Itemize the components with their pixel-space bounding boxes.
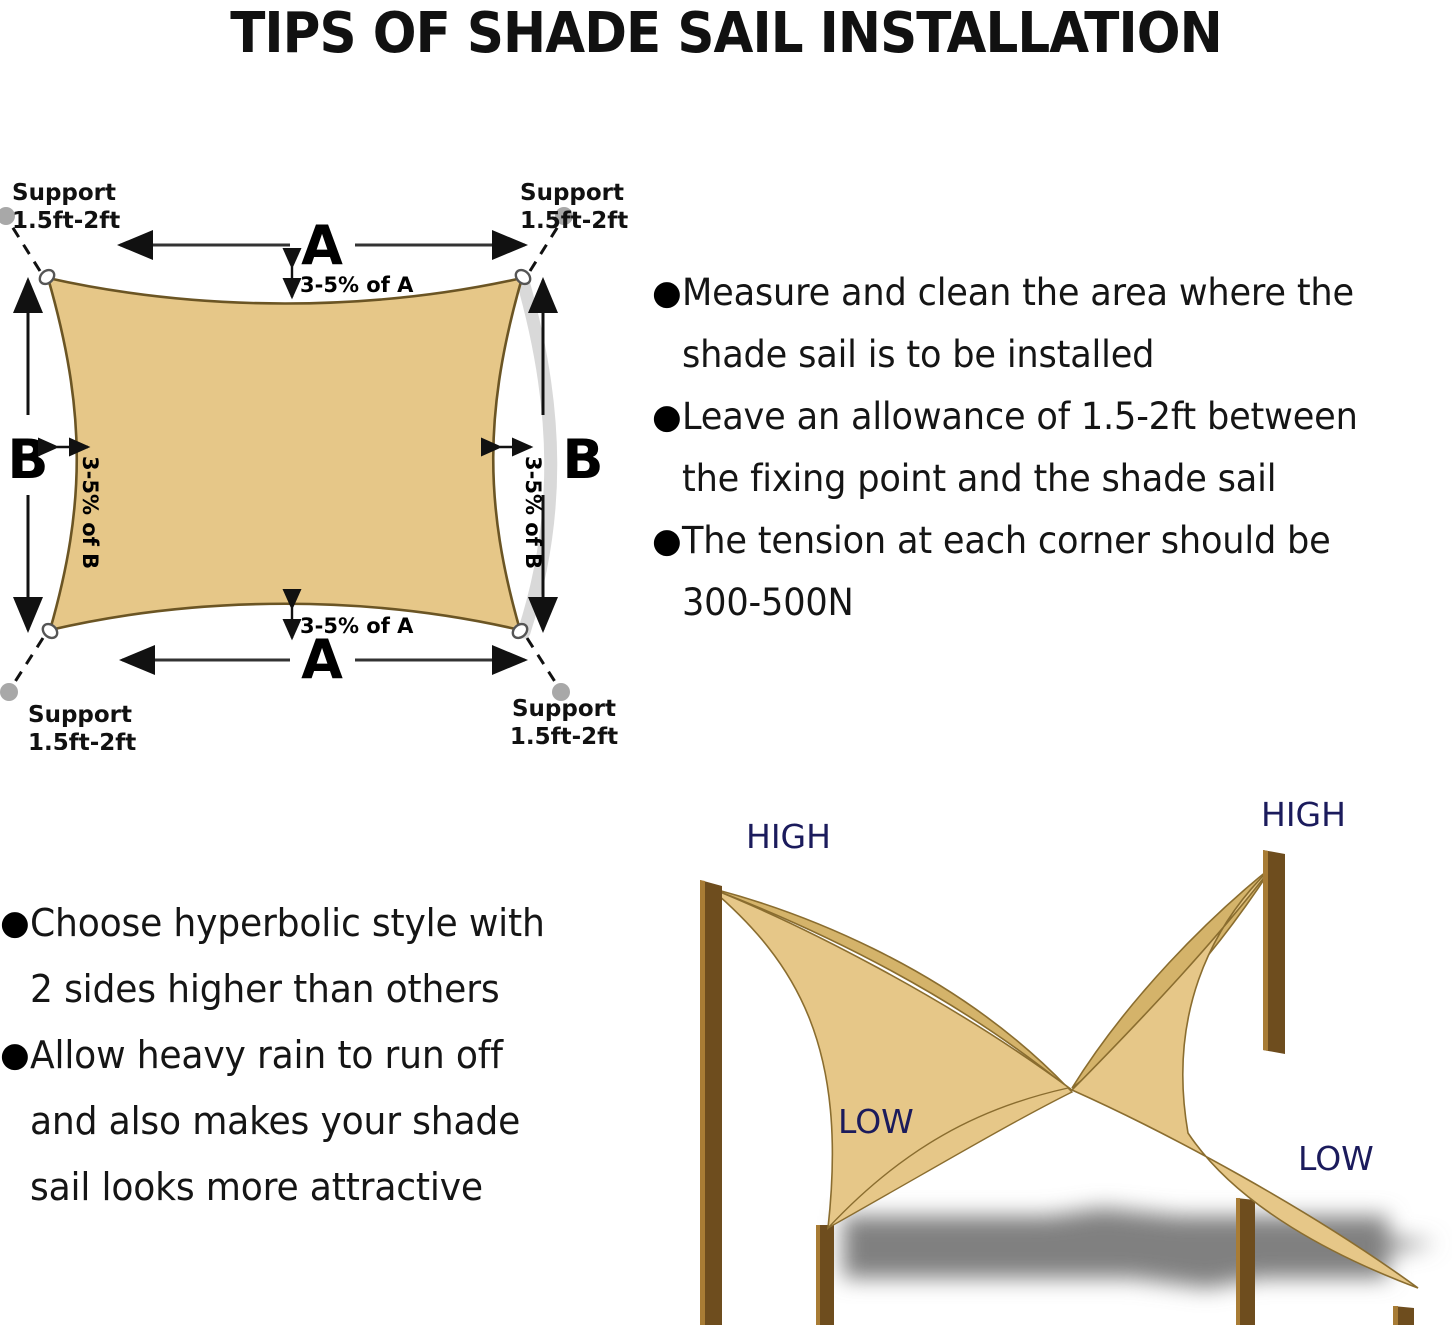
installation-tip-row-3: the fixing point and the shade sail (652, 448, 1452, 510)
curvature-label-top: 3-5% of A (300, 273, 414, 297)
curvature-label-bottom: 3-5% of A (300, 614, 414, 638)
post-low-left (816, 1225, 834, 1325)
dimension-label-b-left: B (7, 428, 48, 491)
bullet-dot-icon: ● (0, 890, 30, 956)
installation-tip-text-3: the fixing point and the shade sail (682, 448, 1414, 510)
hyperbolic-tip-text-3: and also makes your shade (30, 1088, 610, 1154)
hyperbolic-tip-row-0: ●Choose hyperbolic style with (0, 890, 640, 956)
curvature-label-left: 3-5% of B (78, 456, 102, 569)
installation-tip-text-4: The tension at each corner should be (682, 510, 1414, 572)
post-low-right (1393, 1306, 1414, 1325)
hyperbolic-tip-row-4: sail looks more attractive (0, 1154, 640, 1220)
support-label-bottom-left-line2: 1.5ft-2ft (28, 730, 136, 750)
bullet-dot-icon: ● (652, 386, 682, 448)
post-high-right (1263, 850, 1285, 1054)
installation-tip-row-0: ●Measure and clean the area where the (652, 262, 1452, 324)
installation-tip-row-5: 300-500N (652, 572, 1452, 634)
support-label-top-left-line2: 1.5ft-2ft (12, 208, 120, 234)
sail-fabric-shape (48, 278, 522, 630)
hyperbolic-tip-row-2: ●Allow heavy rain to run off (0, 1022, 640, 1088)
hyperbolic-tip-row-1: 2 sides higher than others (0, 956, 640, 1022)
bullet-dot-icon: ● (0, 1022, 30, 1088)
installation-tips-list: ●Measure and clean the area where thesha… (652, 262, 1452, 634)
hyperbolic-style-tips-list: ●Choose hyperbolic style with2 sides hig… (0, 890, 640, 1220)
bullet-dot-icon: ● (652, 510, 682, 572)
label-high-right: HIGH (1261, 795, 1346, 834)
installation-tip-text-0: Measure and clean the area where the (682, 262, 1414, 324)
label-low-right: LOW (1298, 1139, 1374, 1178)
page-title: TIPS OF SHADE SAIL INSTALLATION (58, 0, 1394, 66)
hyperbolic-shade-sail-illustration: HIGH HIGH LOW LOW (648, 788, 1452, 1325)
support-label-bottom-left-line1: Support (28, 702, 132, 728)
label-high-left: HIGH (746, 817, 831, 856)
hyperbolic-tip-text-2: Allow heavy rain to run off (30, 1022, 610, 1088)
dimension-label-b-right: B (562, 428, 603, 491)
support-label-top-left-line1: Support (12, 180, 116, 206)
support-label-top-right-line2: 1.5ft-2ft (520, 208, 628, 234)
post-high-left (700, 880, 722, 1325)
support-label-bottom-right-line1: Support (512, 696, 616, 722)
hyperbolic-tip-text-0: Choose hyperbolic style with (30, 890, 610, 956)
hyperbolic-tip-text-4: sail looks more attractive (30, 1154, 610, 1220)
bullet-dot-icon: ● (652, 262, 682, 324)
installation-tip-row-2: ●Leave an allowance of 1.5-2ft between (652, 386, 1452, 448)
curvature-label-right: 3-5% of B (521, 456, 545, 569)
installation-tip-row-1: shade sail is to be installed (652, 324, 1452, 386)
support-label-top-right-line1: Support (520, 180, 624, 206)
installation-tip-text-5: 300-500N (682, 572, 1414, 634)
hyperbolic-tip-text-1: 2 sides higher than others (30, 956, 610, 1022)
post-mid-right (1236, 1198, 1255, 1325)
installation-tip-text-1: shade sail is to be installed (682, 324, 1414, 386)
installation-tip-row-4: ●The tension at each corner should be (652, 510, 1452, 572)
dimension-label-a-top: A (301, 214, 343, 277)
installation-tip-text-2: Leave an allowance of 1.5-2ft between (682, 386, 1414, 448)
shade-sail-dimension-diagram: A 3-5% of A A 3-5% of A B 3-5% of B B 3-… (0, 160, 650, 750)
label-low-left: LOW (838, 1102, 914, 1141)
hyperbolic-tip-row-3: and also makes your shade (0, 1088, 640, 1154)
support-label-bottom-right-line2: 1.5ft-2ft (510, 724, 618, 750)
